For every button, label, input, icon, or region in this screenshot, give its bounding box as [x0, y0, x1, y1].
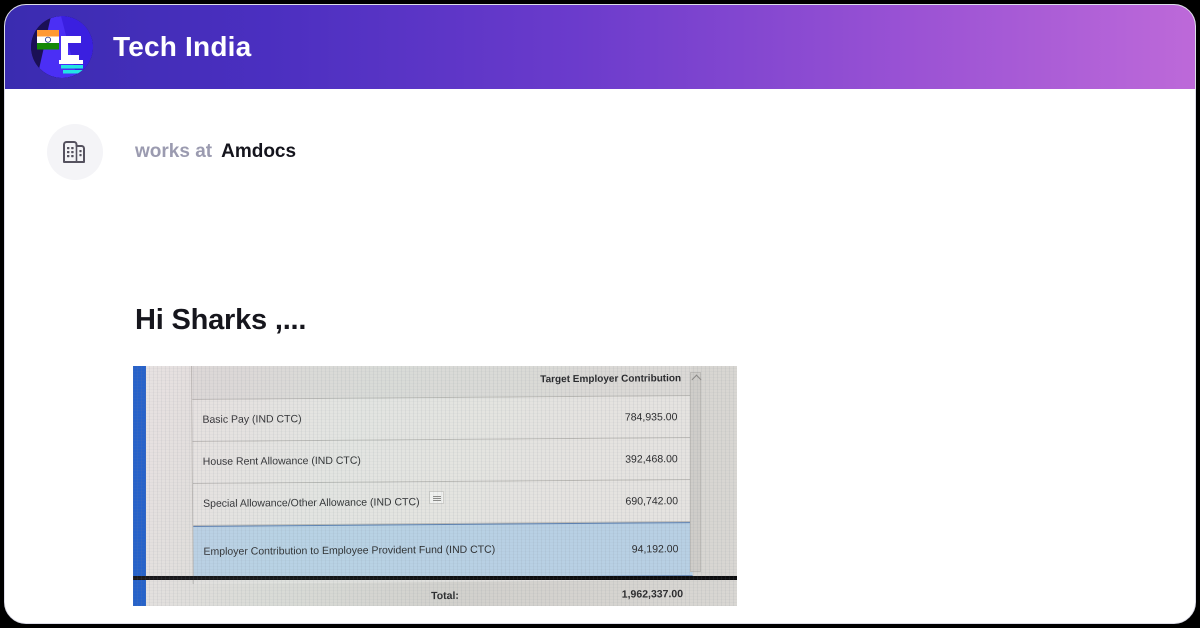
- works-at-label: works at: [135, 141, 212, 163]
- table-row: House Rent Allowance (IND CTC) 392,468.0…: [193, 438, 692, 484]
- table-column-header: Target Employer Contribution: [192, 366, 691, 400]
- star-reaction-icon[interactable]: [183, 623, 213, 624]
- company-name: Amdocs: [221, 141, 296, 163]
- row-label: House Rent Allowance (IND CTC): [203, 453, 626, 469]
- row-label: Employer Contribution to Employee Provid…: [203, 543, 631, 559]
- row-value: 784,935.00: [625, 411, 686, 423]
- photo-table-bottom-rule: [133, 576, 737, 580]
- post-card: Tech India: [4, 4, 1196, 624]
- post-title: Hi Sharks ,...: [135, 304, 306, 337]
- bowl-header: Tech India: [5, 5, 1195, 89]
- author-affiliation: works at Amdocs: [47, 124, 296, 180]
- photo-scrollbar: [690, 372, 701, 572]
- reactions-group[interactable]: 1: [135, 623, 240, 624]
- fishbowl-wordmark-part2: wl: [1095, 623, 1129, 624]
- table-row: Basic Pay (IND CTC) 784,935.00: [192, 396, 691, 442]
- moon-reaction-icon[interactable]: [159, 623, 189, 624]
- affiliation-text: works at Amdocs: [135, 141, 296, 163]
- bowl-title: Tech India: [113, 31, 251, 63]
- post-attachment-image[interactable]: Target Employer Contribution Basic Pay (…: [133, 366, 737, 606]
- photo-left-blue-strip: [133, 366, 146, 606]
- star-reaction-icon[interactable]: [135, 623, 165, 624]
- row-label: Special Allowance/Other Allowance (IND C…: [203, 495, 626, 511]
- column-header-label: Target Employer Contribution: [540, 373, 681, 385]
- fishbowl-wordmark-part1: fishb: [994, 623, 1071, 624]
- post-footer: 1 fishb wl: [5, 617, 1195, 624]
- row-value: 94,192.00: [632, 543, 687, 555]
- compensation-table: Target Employer Contribution Basic Pay (…: [191, 366, 693, 584]
- reaction-badge-stack[interactable]: [135, 623, 213, 624]
- row-label: Basic Pay (IND CTC): [202, 411, 625, 427]
- post-body: works at Amdocs Hi Sharks ,... Target Em…: [5, 89, 1195, 623]
- tech-india-circle-logo-icon: [31, 16, 93, 78]
- total-value: 1,962,337.00: [622, 588, 683, 600]
- photo-cell-icon: [429, 491, 444, 504]
- row-value: 392,468.00: [625, 453, 686, 465]
- total-label: Total:: [431, 590, 459, 602]
- building-icon: [47, 124, 103, 180]
- row-value: 690,742.00: [625, 495, 686, 507]
- fishbowl-wordmark: fishb wl: [994, 623, 1129, 624]
- table-total-row: Total: 1,962,337.00: [191, 584, 691, 606]
- table-row-selected: Employer Contribution to Employee Provid…: [193, 522, 692, 580]
